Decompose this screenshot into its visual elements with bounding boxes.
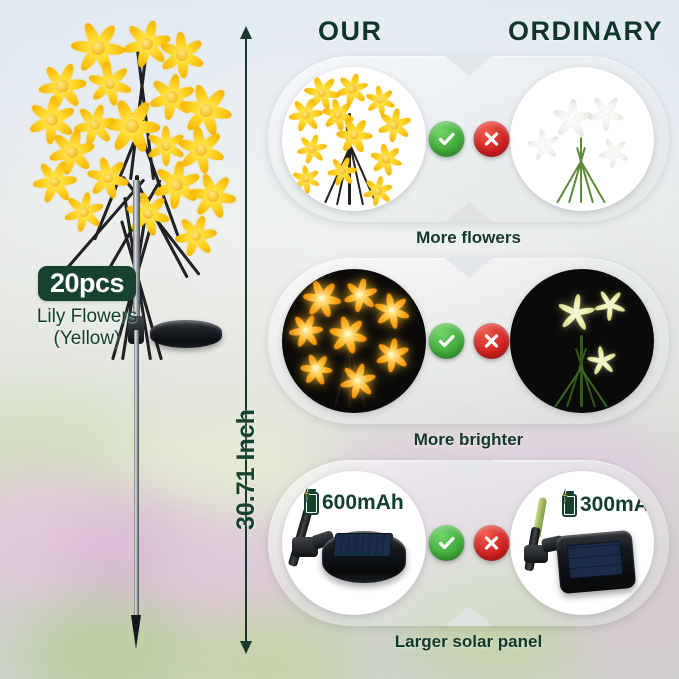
product-name: Lily Flowers (Yellow) bbox=[14, 306, 160, 351]
verdict-row2 bbox=[428, 323, 509, 359]
panel-notch-bottom bbox=[445, 404, 493, 424]
product-infographic: 20pcs Lily Flowers (Yellow) 30.71 Inch O… bbox=[0, 0, 679, 679]
theirs-image-row1 bbox=[510, 67, 654, 211]
panel-notch-top bbox=[445, 460, 493, 480]
product-pole bbox=[134, 330, 139, 630]
column-header-ours: OUR bbox=[318, 16, 383, 47]
verdict-row3 bbox=[428, 525, 509, 561]
caption-row2: More brighter bbox=[268, 430, 669, 450]
battery-icon: ⚡ bbox=[304, 492, 319, 515]
product-name-line2: (Yellow) bbox=[14, 328, 160, 350]
battery-icon: ⚡ bbox=[562, 494, 577, 517]
check-circle-icon bbox=[428, 323, 464, 359]
measure-line bbox=[245, 32, 247, 646]
theirs-image-row3: ⚡ 300mAh bbox=[510, 471, 654, 615]
quantity-badge: 20pcs bbox=[38, 266, 136, 301]
column-header-theirs: ORDINARY bbox=[508, 16, 663, 47]
theirs-capacity-value: 300mAh bbox=[580, 493, 654, 517]
panel-notch-bottom bbox=[445, 606, 493, 626]
cross-circle-icon bbox=[473, 121, 509, 157]
product-solar-panel bbox=[150, 320, 222, 348]
ours-image-row3: ⚡ 600mAh bbox=[282, 471, 426, 615]
ours-image-row1 bbox=[282, 67, 426, 211]
hero-product-image: 20pcs Lily Flowers (Yellow) bbox=[0, 0, 268, 679]
ours-capacity-label-row3: ⚡ 600mAh bbox=[304, 491, 404, 515]
verdict-row1 bbox=[428, 121, 509, 157]
theirs-image-row2 bbox=[510, 269, 654, 413]
measure-label: 30.71 Inch bbox=[232, 409, 261, 530]
ours-image-row2 bbox=[282, 269, 426, 413]
panel-notch-top bbox=[445, 258, 493, 278]
comparison-panel-row3: ⚡ 600mAh ⚡ 300mAh bbox=[268, 460, 669, 626]
lily-bloom bbox=[173, 213, 219, 259]
comparison-panel-row2 bbox=[268, 258, 669, 424]
check-circle-icon bbox=[428, 121, 464, 157]
ground-stake-tip bbox=[131, 615, 141, 649]
cross-circle-icon bbox=[473, 525, 509, 561]
ours-capacity-value: 600mAh bbox=[322, 491, 404, 515]
theirs-capacity-label-row3: ⚡ 300mAh bbox=[562, 493, 654, 517]
caption-row1: More flowers bbox=[268, 228, 669, 248]
cross-circle-icon bbox=[473, 323, 509, 359]
panel-notch-top bbox=[445, 56, 493, 76]
comparison-panel-row1 bbox=[268, 56, 669, 222]
measure-arrow-down-icon bbox=[240, 641, 252, 654]
quantity-badge-label: 20pcs bbox=[50, 268, 124, 299]
check-circle-icon bbox=[428, 525, 464, 561]
caption-row3: Larger solar panel bbox=[268, 632, 669, 652]
panel-notch-bottom bbox=[445, 202, 493, 222]
lily-bloom bbox=[188, 171, 238, 221]
product-name-line1: Lily Flowers bbox=[14, 306, 160, 328]
